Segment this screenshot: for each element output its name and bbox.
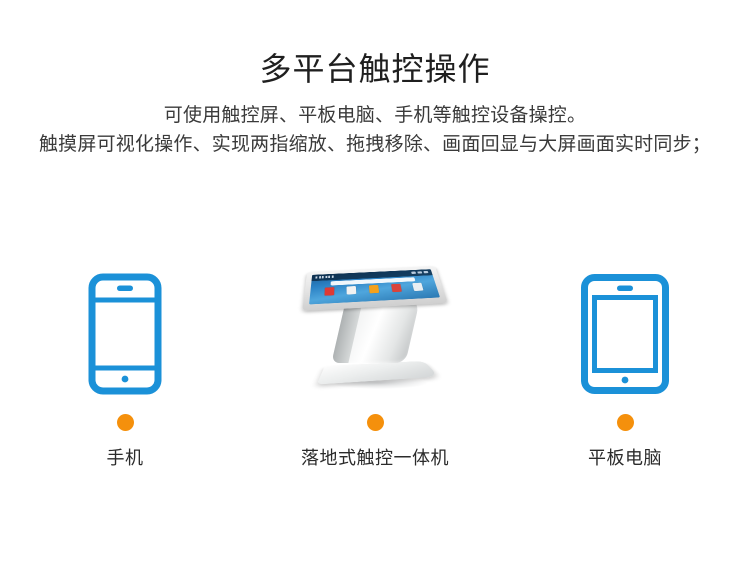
device-label-phone: 手机 (107, 447, 144, 469)
device-item-kiosk: 落地式触控一体机 (250, 230, 500, 469)
phone-marker-dot (117, 414, 134, 431)
kiosk-app-icon-3 (369, 285, 379, 293)
floor-standing-touch-kiosk-photo (295, 245, 455, 395)
page-header: 多平台触控操作 可使用触控屏、平板电脑、手机等触控设备操控。 触摸屏可视化操作、… (0, 0, 750, 159)
device-label-kiosk: 落地式触控一体机 (301, 447, 449, 469)
kiosk-display-screen (309, 269, 440, 304)
tablet-icon (580, 273, 670, 395)
smartphone-icon (88, 273, 162, 395)
kiosk-marker-dot (367, 414, 384, 431)
kiosk-app-icon-2 (347, 286, 357, 295)
kiosk-display-bezel (302, 266, 448, 311)
kiosk-artwork (295, 230, 455, 395)
device-item-tablet: 平板电脑 (500, 230, 750, 469)
tablet-marker-dot (617, 414, 634, 431)
kiosk-status-right-indicators (411, 271, 428, 274)
kiosk-app-icon-1 (324, 287, 334, 296)
page-subtitle: 可使用触控屏、平板电脑、手机等触控设备操控。 触摸屏可视化操作、实现两指缩放、拖… (0, 101, 750, 159)
device-showcase-row: 手机 (0, 230, 750, 500)
phone-artwork (88, 230, 162, 395)
tablet-artwork (580, 230, 670, 395)
device-label-tablet: 平板电脑 (588, 447, 662, 469)
subtitle-line-1: 可使用触控屏、平板电脑、手机等触控设备操控。 (0, 101, 750, 130)
page-title: 多平台触控操作 (0, 0, 750, 87)
kiosk-status-left-indicators (315, 276, 333, 279)
kiosk-app-icon-4 (391, 284, 402, 292)
kiosk-app-icon-5 (412, 282, 423, 290)
device-item-phone: 手机 (0, 230, 250, 469)
subtitle-line-2: 触摸屏可视化操作、实现两指缩放、拖拽移除、画面回显与大屏画面实时同步； (0, 130, 750, 159)
